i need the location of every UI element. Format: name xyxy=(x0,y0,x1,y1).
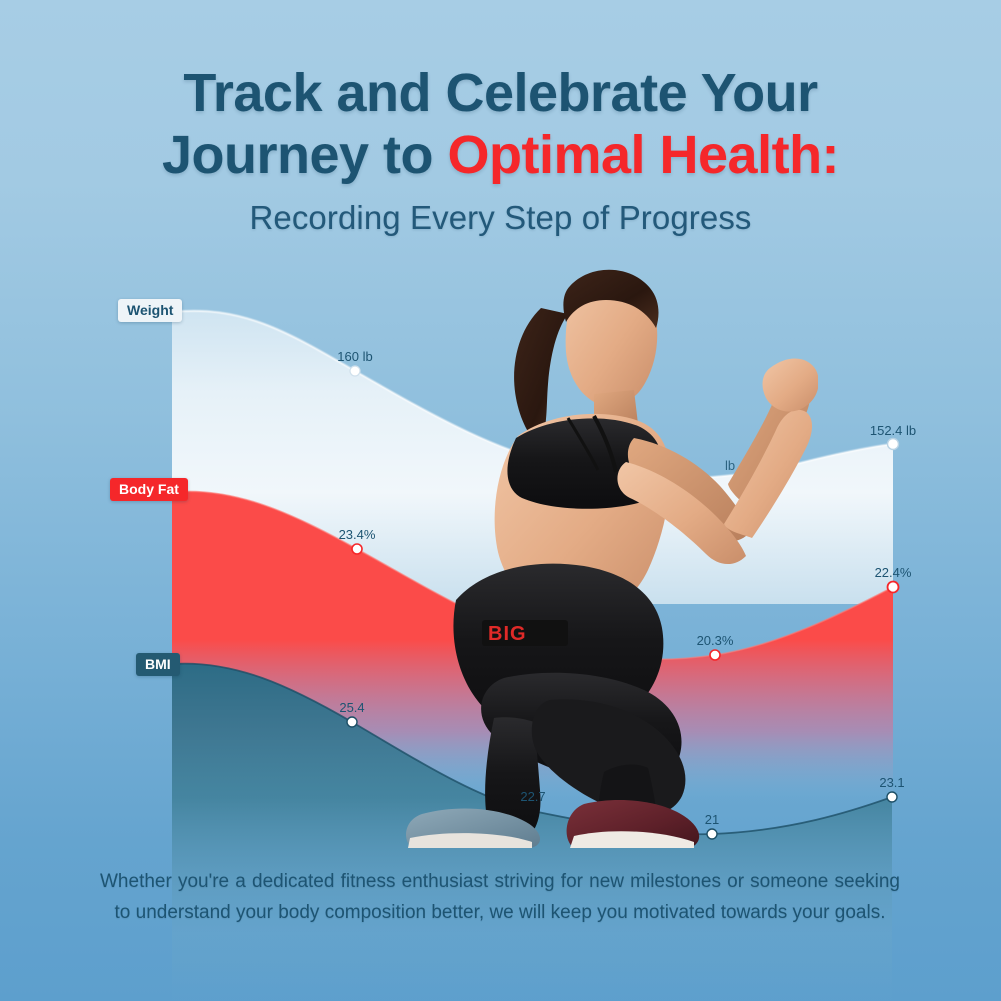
headline-block: Track and Celebrate Your Journey to Opti… xyxy=(0,62,1001,237)
brand-text: BIG xyxy=(488,623,527,645)
headline-line-2-plain: Journey to xyxy=(162,125,448,185)
legend-badge-weight[interactable]: Weight xyxy=(118,299,182,322)
infographic-poster: BIG Track and Celebrate Your Journey to … xyxy=(0,0,1001,1001)
value-label-bodyfat-224: 22.4% xyxy=(875,565,912,580)
point-bmi-254 xyxy=(347,717,357,727)
value-label-weight-mid: lb xyxy=(725,458,735,473)
value-label-bmi-231: 23.1 xyxy=(879,775,904,790)
point-weight-152 xyxy=(888,439,899,450)
headline-line-2-accent: Optimal Health: xyxy=(448,125,840,185)
point-bodyfat-234 xyxy=(352,544,362,554)
value-label-bmi-227: 22.7 xyxy=(520,789,545,804)
fitness-model-photo: BIG xyxy=(398,248,818,848)
headline-subtitle: Recording Every Step of Progress xyxy=(0,199,1001,237)
value-label-bmi-254: 25.4 xyxy=(339,700,364,715)
headline-line-2: Journey to Optimal Health: xyxy=(0,124,1001,186)
value-label-bmi-21: 21 xyxy=(705,812,719,827)
headline-line-1: Track and Celebrate Your xyxy=(0,62,1001,124)
legend-badge-bmi[interactable]: BMI xyxy=(136,653,180,676)
value-label-weight-152: 152.4 lb xyxy=(870,423,916,438)
point-bodyfat-224 xyxy=(888,582,899,593)
value-label-weight-160: 160 lb xyxy=(337,349,372,364)
hands xyxy=(763,358,818,411)
legend-badge-body-fat[interactable]: Body Fat xyxy=(110,478,188,501)
value-label-bodyfat-234: 23.4% xyxy=(339,527,376,542)
value-label-bodyfat-203: 20.3% xyxy=(697,633,734,648)
point-weight-160 xyxy=(350,366,360,376)
point-bmi-231 xyxy=(887,792,897,802)
footer-paragraph: Whether you're a dedicated fitness enthu… xyxy=(100,866,900,928)
